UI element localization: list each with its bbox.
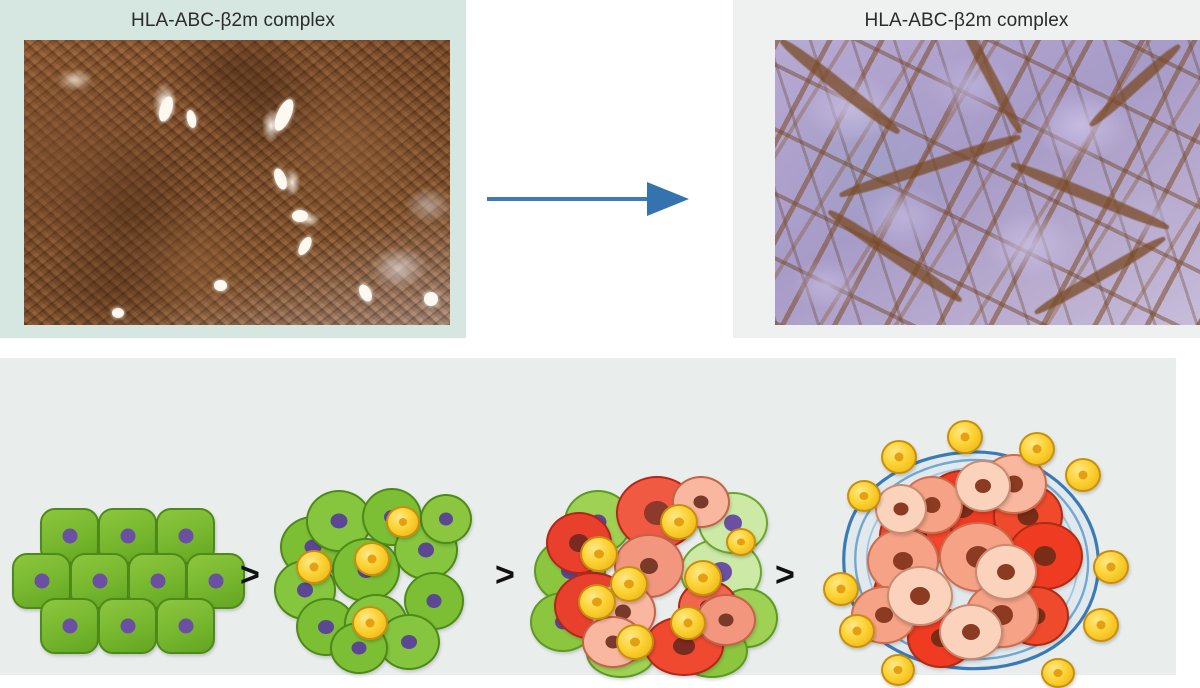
immune-cell [580,536,618,572]
immune-cell-core [310,563,319,572]
immune-cell-core [1033,445,1042,454]
stage-dysplasia-carcinoma [530,476,775,672]
immune-cell-core [399,518,407,526]
nucleus-icon [910,587,930,605]
immune-cell-core [894,666,903,674]
ihc-left-caption: HLA-ABC-β2m complex [0,8,466,34]
tumour-cell [875,484,927,534]
immune-cell [684,560,722,596]
immune-cell [296,550,332,584]
brown-dab-tissue [24,40,450,325]
nucleus-icon [178,619,193,634]
nucleus-icon [318,620,334,634]
immune-cell-core [860,492,869,500]
arrow-shaft [487,197,653,201]
immune-cell [1065,458,1101,492]
immune-cell [881,440,917,474]
immune-cell-core [592,598,602,607]
immune-cell [1083,608,1119,642]
lumen-icon [112,308,124,318]
figure-root: HLA-ABC-β2m complex HLA-ABC-β2m complex [0,0,1200,675]
lumen-icon [214,280,227,291]
ihc-panel-left: HLA-ABC-β2m complex [0,0,466,338]
ihc-right-caption: HLA-ABC-β2m complex [733,8,1200,34]
immune-cell-core [624,580,634,589]
immune-cell-core [1107,563,1116,572]
immune-cell [386,506,420,538]
immune-cell [1019,432,1055,466]
nucleus-icon [418,543,434,558]
tumour-progression-panel: > [0,358,1176,675]
immune-cell [947,420,983,454]
immune-cell-core [853,627,862,636]
stage-separator-2: > [495,558,515,592]
tumour-cell [975,544,1037,600]
immune-cell-core [737,539,745,546]
nucleus-icon [997,564,1015,580]
nucleus-icon [975,479,991,493]
nucleus-icon [401,635,417,649]
immune-cell [881,654,915,686]
immune-cell-core [1054,669,1063,677]
nucleus-icon [178,529,193,544]
immune-cell [1093,550,1129,584]
immune-cell [670,606,706,640]
epithelial-cell [40,598,99,654]
stage-separator-3: > [775,558,795,592]
immune-cell [578,584,616,620]
immune-cell-core [684,619,693,628]
nucleus-icon [120,619,135,634]
immune-cell-core [594,550,604,559]
stage-immune-escape [815,418,1145,673]
immune-cell-core [837,585,846,594]
immune-cell-core [1097,621,1106,630]
tumour-cell [420,494,472,544]
ihc-right-image [775,40,1200,325]
nucleus-icon [439,513,453,526]
nucleus-icon [34,574,49,589]
immune-cell-core [895,453,904,462]
immune-cell-core [368,555,377,564]
ihc-panel-right: HLA-ABC-β2m complex [733,0,1200,338]
immune-cell [847,480,881,512]
nucleus-icon [694,496,709,509]
nucleus-icon [120,529,135,544]
immune-cell [726,528,756,556]
nucleus-icon [331,514,348,529]
nucleus-icon [150,574,165,589]
nucleus-icon [719,614,734,627]
immune-cell [660,504,698,540]
nucleus-icon [208,574,223,589]
immune-cell [839,614,875,648]
ihc-left-image [24,40,450,325]
immune-cell [354,542,390,576]
epithelial-cell [156,598,215,654]
arrow-head-icon [647,182,689,216]
nucleus-icon [894,503,909,516]
nucleus-icon [427,594,442,608]
nucleus-icon [297,583,313,598]
immune-cell-core [961,433,970,442]
nucleus-icon [352,642,367,655]
immune-cell-core [674,518,684,527]
immune-cell [1041,658,1075,688]
stage-normal-epithelium [10,508,235,648]
immune-cell [352,606,388,640]
immune-cell [823,572,859,606]
immune-cell [616,624,654,660]
immune-cell-core [698,574,708,583]
nucleus-icon [962,624,980,640]
stage-hyperplasia [270,486,485,668]
stage-separator-1: > [240,558,260,592]
nucleus-icon [92,574,107,589]
progression-arrow [487,182,695,216]
immune-cell [610,566,648,602]
lumen-icon [424,292,438,306]
tumour-cell [939,604,1003,660]
nucleus-icon [62,619,77,634]
nucleus-icon [1034,546,1056,566]
tumour-cell [955,460,1011,512]
epithelial-cell [98,598,157,654]
nucleus-icon [62,529,77,544]
immune-cell-core [630,638,640,647]
lumen-icon [292,210,308,222]
immune-cell-core [1079,471,1088,480]
immune-cell-core [366,619,375,628]
